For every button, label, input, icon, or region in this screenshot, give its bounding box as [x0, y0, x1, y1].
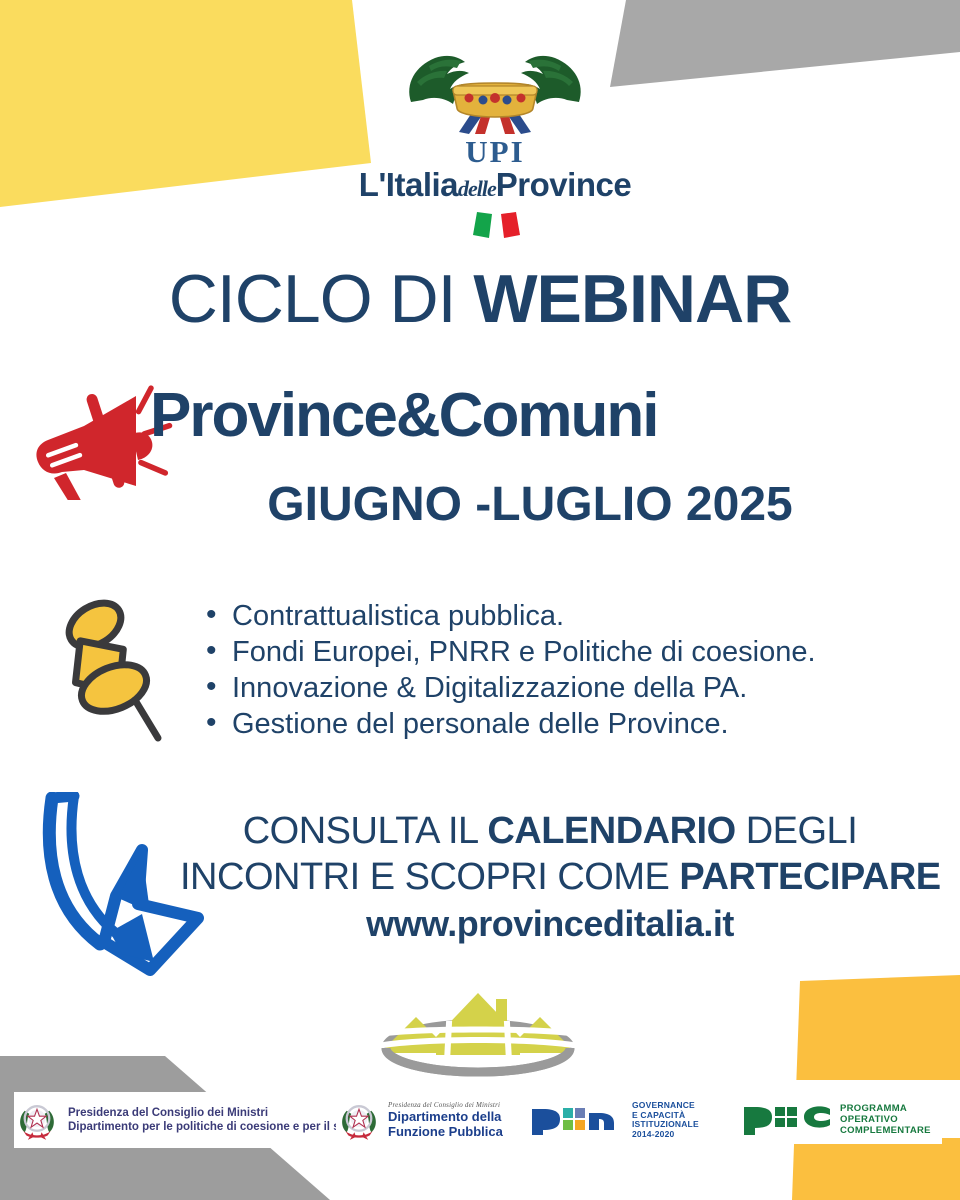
logo-pon: GOVERNANCE E CAPACITÀ ISTITUZIONALE 2014…	[530, 1096, 700, 1144]
cta-line-2: INCONTRI E SCOPRI COME PARTECIPARE	[180, 854, 920, 900]
logo-dipartimento-funzione-pubblica: Presidenza del Consiglio dei Ministri Di…	[336, 1090, 516, 1150]
dfp-line-1: Dipartimento della	[388, 1109, 503, 1124]
website-link[interactable]: www.provinceditalia.it	[180, 900, 920, 948]
cta-line2-b: PARTECIPARE	[679, 856, 940, 898]
headline-heavy: WEBINAR	[473, 261, 791, 337]
upi-tagline-part1: L'Italia	[359, 166, 458, 203]
pon-mark-icon	[530, 1103, 626, 1137]
poc-line-1: PROGRAMMA	[840, 1103, 931, 1114]
headline-light: CICLO DI	[169, 261, 474, 337]
upi-logo: Unione Province d'Italia	[340, 8, 650, 248]
cta-line2-a: INCONTRI E SCOPRI COME	[180, 856, 679, 898]
pushpin-icon	[52, 592, 176, 744]
topics-list: Contrattualistica pubblica. Fondi Europe…	[200, 598, 940, 742]
cta-line1-b: CALENDARIO	[487, 810, 735, 852]
upi-tagline: L'ItaliadelleProvince	[340, 166, 650, 204]
list-item: Innovazione & Digitalizzazione della PA.	[200, 670, 940, 706]
pcm-line-1: Presidenza del Consiglio dei Ministri	[68, 1106, 354, 1120]
upi-acronym: UPI	[340, 134, 650, 170]
poc-label: PROGRAMMA OPERATIVO COMPLEMENTARE	[840, 1103, 931, 1136]
cta-line1-c: DEGLI	[736, 810, 858, 852]
logo-presidenza-consiglio-ministri: Presidenza del Consiglio dei Ministri Di…	[14, 1092, 334, 1148]
italian-flag-icon	[340, 208, 650, 244]
list-item: Fondi Europei, PNRR e Politiche di coesi…	[200, 634, 940, 670]
pcm-label: Presidenza del Consiglio dei Ministri Di…	[68, 1106, 354, 1134]
italian-republic-emblem-icon	[336, 1097, 382, 1143]
webinar-series-name: Province&Comuni	[150, 382, 910, 450]
upi-tagline-script: delle	[458, 176, 496, 201]
dfp-label: Presidenza del Consiglio dei Ministri Di…	[388, 1101, 503, 1139]
list-item: Contrattualistica pubblica.	[200, 598, 940, 634]
page-title: CICLO DI WEBINAR	[0, 262, 960, 336]
italian-republic-emblem-icon	[14, 1097, 60, 1143]
crown-laurel-crest-icon	[395, 46, 595, 136]
pon-line-4: 2014-2020	[632, 1130, 699, 1140]
decoration-top-right-gray	[610, 0, 960, 100]
provinces-houses-icon	[378, 985, 578, 1077]
call-to-action: CONSULTA IL CALENDARIO DEGLI INCONTRI E …	[180, 808, 920, 948]
upi-tagline-part2: Province	[496, 166, 631, 203]
poster-canvas: Unione Province d'Italia	[0, 0, 960, 1200]
poc-mark-icon	[742, 1101, 834, 1137]
poc-line-2: OPERATIVO	[840, 1114, 931, 1125]
cta-line-1: CONSULTA IL CALENDARIO DEGLI	[180, 808, 920, 854]
pon-label: GOVERNANCE E CAPACITÀ ISTITUZIONALE 2014…	[632, 1101, 699, 1139]
dfp-small-line: Presidenza del Consiglio dei Ministri	[388, 1101, 503, 1109]
decoration-top-left-yellow	[0, 0, 380, 215]
logo-poc: PROGRAMMA OPERATIVO COMPLEMENTARE	[742, 1094, 942, 1144]
cta-line1-a: CONSULTA IL	[243, 810, 488, 852]
poc-line-3: COMPLEMENTARE	[840, 1125, 931, 1136]
webinar-dates: GIUGNO -LUGLIO 2025	[150, 476, 910, 534]
pcm-line-2: Dipartimento per le politiche di coesion…	[68, 1120, 354, 1134]
dfp-line-2: Funzione Pubblica	[388, 1124, 503, 1139]
list-item: Gestione del personale delle Province.	[200, 706, 940, 742]
